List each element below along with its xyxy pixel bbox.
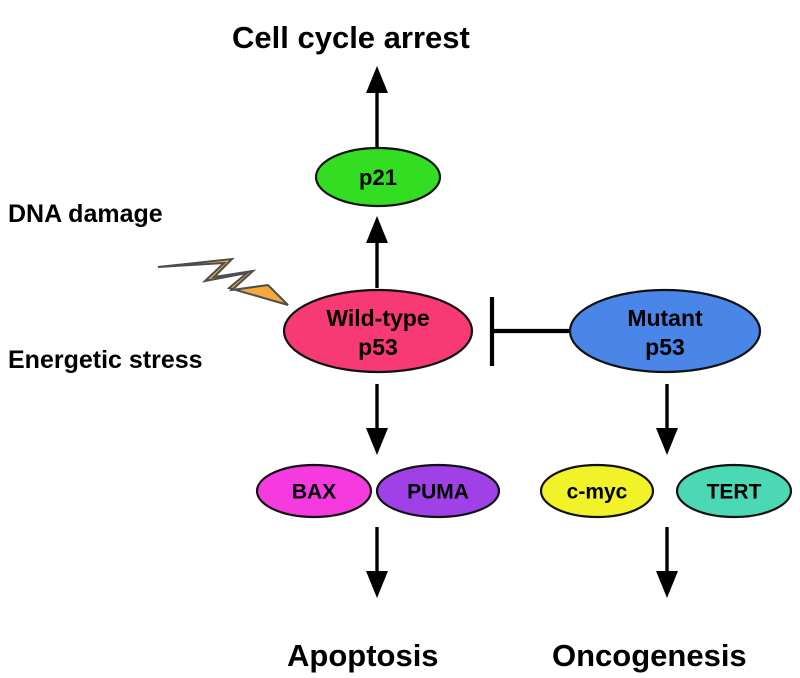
edge-mutp53-to-cmyc-tert bbox=[656, 384, 678, 455]
node-puma[interactable]: PUMA bbox=[377, 465, 499, 517]
node-bax-label: BAX bbox=[292, 481, 336, 504]
label-oncogenesis: Oncogenesis bbox=[552, 638, 747, 673]
edge-cmyc-tert-to-oncogenesis bbox=[656, 527, 678, 598]
edge-bax-puma-to-apoptosis bbox=[366, 527, 388, 598]
node-wild-type-p53-label-line1: Wild-type bbox=[326, 305, 429, 331]
node-p21[interactable]: p21 bbox=[316, 148, 440, 206]
label-cell-cycle-arrest: Cell cycle arrest bbox=[232, 20, 470, 55]
label-energetic-stress: Energetic stress bbox=[8, 346, 203, 374]
node-mutant-p53-label-line2: p53 bbox=[645, 334, 685, 360]
node-wild-type-p53-label-line2: p53 bbox=[358, 334, 398, 360]
node-puma-label: PUMA bbox=[407, 481, 469, 504]
node-wild-type-p53[interactable]: Wild-type p53 bbox=[284, 290, 472, 372]
label-dna-damage: DNA damage bbox=[8, 200, 163, 228]
node-cmyc[interactable]: c-myc bbox=[541, 465, 653, 517]
node-tert-label: TERT bbox=[707, 481, 762, 504]
pathway-canvas: p21 Wild-type p53 Mutant p53 BAX PUMA c-… bbox=[0, 0, 800, 678]
node-tert[interactable]: TERT bbox=[677, 465, 791, 517]
edge-mutp53-inhibits-wtp53 bbox=[492, 297, 570, 366]
edge-p21-to-cell-cycle-arrest bbox=[366, 66, 388, 148]
node-bax[interactable]: BAX bbox=[257, 465, 371, 517]
node-mutant-p53[interactable]: Mutant p53 bbox=[570, 290, 760, 372]
edge-wtp53-to-bax-puma bbox=[366, 384, 388, 455]
pathway-diagram: p21 Wild-type p53 Mutant p53 BAX PUMA c-… bbox=[0, 0, 800, 678]
node-cmyc-label: c-myc bbox=[567, 481, 628, 504]
node-p21-label: p21 bbox=[359, 165, 397, 190]
label-apoptosis: Apoptosis bbox=[287, 638, 439, 673]
edge-wtp53-to-p21 bbox=[366, 216, 388, 288]
node-mutant-p53-label-line1: Mutant bbox=[627, 305, 703, 331]
lightning-bolt-icon bbox=[158, 259, 288, 305]
